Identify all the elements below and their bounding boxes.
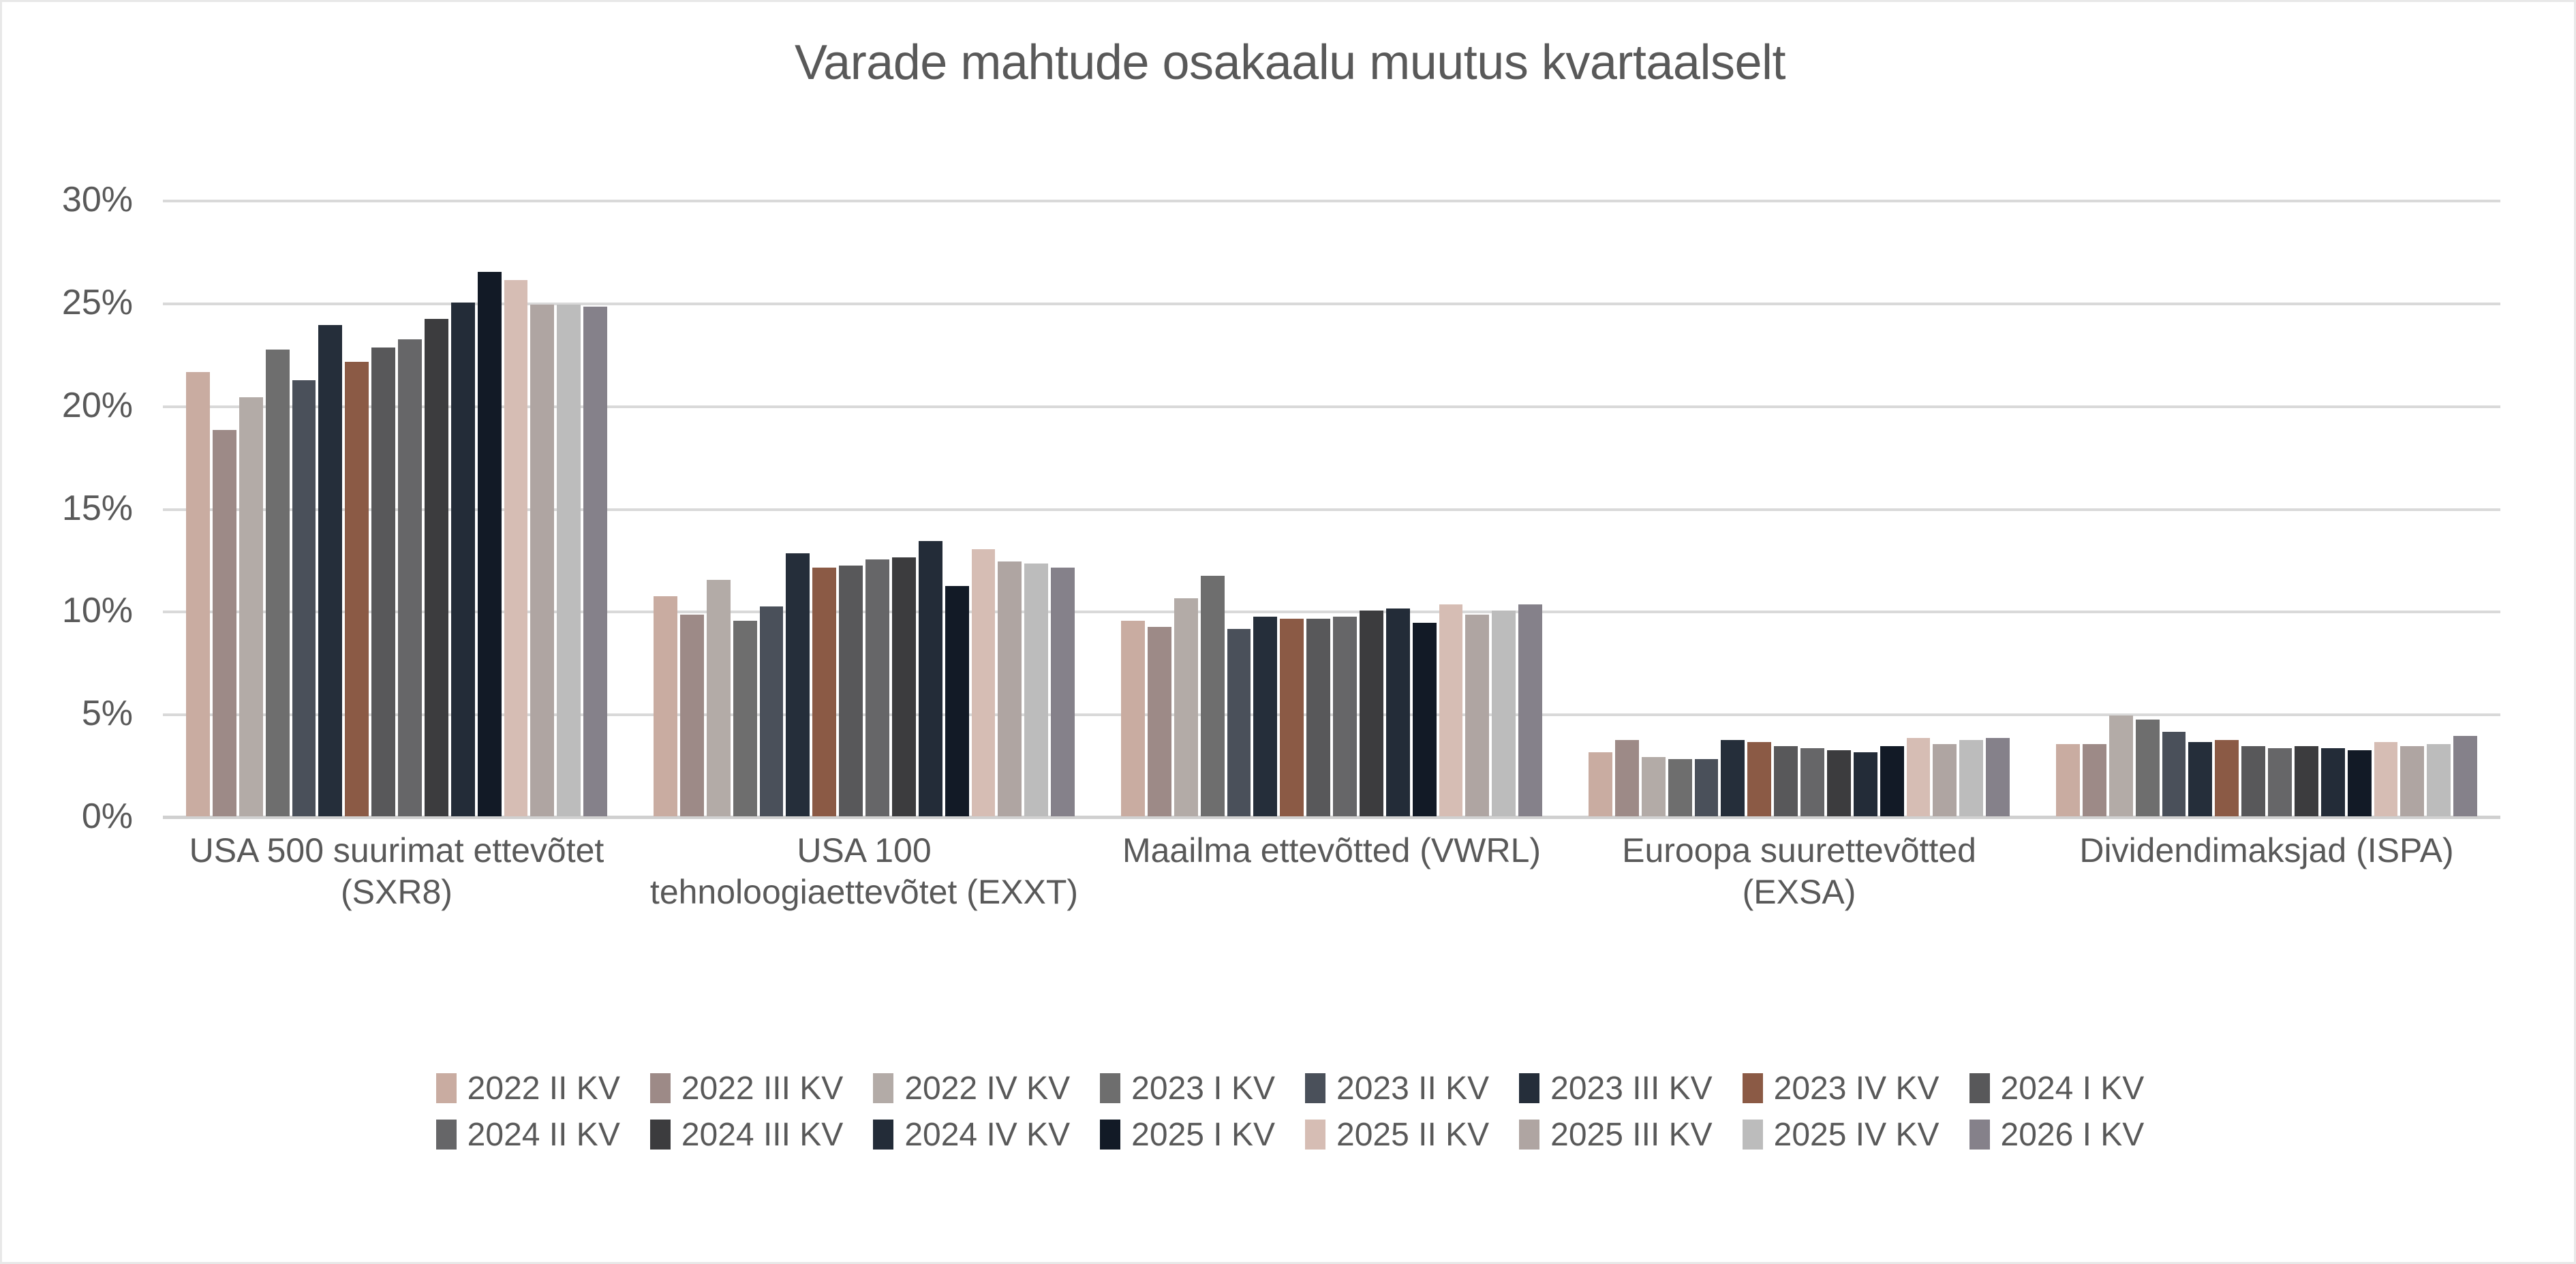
legend-swatch-icon (436, 1120, 457, 1150)
legend-item[interactable]: 2025 III KV (1519, 1116, 1713, 1154)
bar-group (2033, 200, 2500, 816)
bar[interactable] (892, 557, 916, 816)
bar[interactable] (478, 272, 502, 816)
bar[interactable] (2056, 744, 2080, 816)
chart-title: Varade mahtude osakaalu muutus kvartaals… (2, 35, 2576, 91)
x-axis-category-label: Euroopa suurettevõtted (EXSA) (1565, 830, 2033, 913)
x-axis-category-label: USA 500 suurimat ettevõtet (SXR8) (163, 830, 630, 913)
x-axis-category-label: Dividendimaksjad (ISPA) (2033, 830, 2500, 913)
bar[interactable] (266, 350, 290, 816)
bar[interactable] (2188, 742, 2212, 816)
bar[interactable] (1121, 621, 1145, 816)
bar[interactable] (1174, 598, 1198, 816)
bar[interactable] (1721, 740, 1745, 816)
bar[interactable] (318, 325, 342, 816)
legend-item-label: 2024 III KV (681, 1116, 844, 1154)
legend-item-label: 2025 IV KV (1774, 1116, 1939, 1154)
legend-swatch-icon (873, 1120, 893, 1150)
bar[interactable] (2162, 732, 2186, 816)
legend-item[interactable]: 2022 IV KV (873, 1070, 1070, 1107)
legend-swatch-icon (1100, 1073, 1120, 1103)
bar[interactable] (583, 307, 607, 816)
bar[interactable] (1148, 627, 1171, 816)
bar[interactable] (1518, 604, 1542, 816)
legend-item-label: 2024 IV KV (904, 1116, 1070, 1154)
legend-item-label: 2023 II KV (1336, 1070, 1489, 1107)
legend-item[interactable]: 2023 II KV (1305, 1070, 1489, 1107)
bar[interactable] (1589, 752, 1612, 816)
legend-swatch-icon (1743, 1073, 1763, 1103)
bar[interactable] (1880, 746, 1904, 816)
legend-item-label: 2026 I KV (2001, 1116, 2145, 1154)
legend-item[interactable]: 2026 I KV (1969, 1116, 2145, 1154)
bar[interactable] (1695, 759, 1719, 816)
bar[interactable] (1333, 617, 1357, 816)
legend-swatch-icon (1100, 1120, 1120, 1150)
legend-item-label: 2023 III KV (1550, 1070, 1713, 1107)
legend-item-label: 2025 II KV (1336, 1116, 1489, 1154)
bar[interactable] (345, 362, 369, 816)
legend-item[interactable]: 2023 IV KV (1743, 1070, 1939, 1107)
bar[interactable] (451, 303, 475, 816)
bar[interactable] (654, 596, 677, 816)
bar[interactable] (1959, 740, 1983, 816)
bar[interactable] (1386, 608, 1410, 816)
legend-item-label: 2025 III KV (1550, 1116, 1713, 1154)
legend-item[interactable]: 2024 I KV (1969, 1070, 2145, 1107)
bar[interactable] (1492, 611, 1516, 816)
legend-item[interactable]: 2025 IV KV (1743, 1116, 1939, 1154)
bar[interactable] (1854, 752, 1877, 816)
legend-row-2: 2024 II KV2024 III KV2024 IV KV2025 I KV… (2, 1111, 2576, 1158)
legend-swatch-icon (650, 1120, 671, 1150)
bar[interactable] (2427, 744, 2451, 816)
bar[interactable] (557, 305, 581, 816)
legend-swatch-icon (873, 1073, 893, 1103)
legend-item[interactable]: 2023 I KV (1100, 1070, 1275, 1107)
y-axis-tick-label: 5% (82, 693, 133, 734)
y-axis-tick-label: 15% (62, 488, 133, 529)
legend-item[interactable]: 2022 III KV (650, 1070, 844, 1107)
bar[interactable] (2453, 736, 2477, 816)
bar[interactable] (972, 549, 996, 816)
bar[interactable] (680, 615, 704, 816)
bar[interactable] (1051, 568, 1075, 816)
bar-groups (163, 200, 2500, 816)
bar[interactable] (1253, 617, 1277, 816)
bar[interactable] (1439, 604, 1463, 816)
legend-swatch-icon (1969, 1073, 1990, 1103)
bar[interactable] (919, 541, 942, 816)
legend-swatch-icon (650, 1073, 671, 1103)
legend-item-label: 2023 IV KV (1774, 1070, 1939, 1107)
bar[interactable] (1827, 750, 1851, 816)
bar[interactable] (2268, 748, 2292, 816)
y-axis-tick-label: 30% (62, 179, 133, 220)
legend-row-1: 2022 II KV2022 III KV2022 IV KV2023 I KV… (2, 1065, 2576, 1111)
legend-swatch-icon (1305, 1073, 1325, 1103)
legend-item[interactable]: 2022 II KV (436, 1070, 620, 1107)
bar[interactable] (839, 566, 863, 816)
legend-item-label: 2022 II KV (467, 1070, 620, 1107)
bar[interactable] (1360, 611, 1383, 816)
legend-swatch-icon (1519, 1073, 1539, 1103)
legend-swatch-icon (1305, 1120, 1325, 1150)
bar[interactable] (2136, 720, 2160, 816)
bar[interactable] (2215, 740, 2239, 816)
bar[interactable] (2400, 746, 2424, 816)
bar[interactable] (292, 380, 316, 816)
bar[interactable] (2374, 742, 2398, 816)
bar[interactable] (1615, 740, 1639, 816)
legend-swatch-icon (1969, 1120, 1990, 1150)
bar[interactable] (2109, 715, 2133, 816)
bar-group (163, 200, 630, 816)
x-axis-category-label: USA 100 tehnoloogiaettevõtet (EXXT) (630, 830, 1098, 913)
legend-item-label: 2022 III KV (681, 1070, 844, 1107)
bar[interactable] (1907, 738, 1931, 816)
bar[interactable] (1668, 759, 1692, 816)
legend-item-label: 2024 I KV (2001, 1070, 2145, 1107)
bar[interactable] (2083, 744, 2106, 816)
legend-item-label: 2023 I KV (1131, 1070, 1275, 1107)
bar[interactable] (1933, 744, 1957, 816)
bar[interactable] (1201, 576, 1225, 816)
bar[interactable] (1465, 615, 1489, 816)
bar[interactable] (707, 580, 731, 816)
bar[interactable] (1306, 619, 1330, 816)
bar[interactable] (1024, 564, 1048, 816)
legend-item[interactable]: 2023 III KV (1519, 1070, 1713, 1107)
y-axis-tick-label: 20% (62, 385, 133, 426)
legend-swatch-icon (436, 1073, 457, 1103)
y-axis-tick-label: 10% (62, 590, 133, 631)
legend-item[interactable]: 2025 I KV (1100, 1116, 1275, 1154)
legend-item-label: 2024 II KV (467, 1116, 620, 1154)
bar[interactable] (186, 372, 210, 816)
bar[interactable] (371, 348, 395, 816)
bar-group (1565, 200, 2033, 816)
bar[interactable] (1413, 623, 1437, 816)
bar[interactable] (213, 430, 236, 816)
legend-item-label: 2022 IV KV (904, 1070, 1070, 1107)
bar[interactable] (2241, 746, 2265, 816)
bar[interactable] (2295, 746, 2318, 816)
bar[interactable] (2348, 750, 2372, 816)
bar[interactable] (945, 586, 969, 816)
y-axis-tick-label: 0% (82, 796, 133, 837)
bar[interactable] (998, 561, 1022, 816)
x-axis-category-label: Maailma ettevõtted (VWRL) (1098, 830, 1565, 913)
bar[interactable] (760, 606, 784, 816)
legend-item[interactable]: 2024 IV KV (873, 1116, 1070, 1154)
bar[interactable] (239, 397, 263, 816)
bar[interactable] (1774, 746, 1798, 816)
chart-legend: 2022 II KV2022 III KV2022 IV KV2023 I KV… (2, 1065, 2576, 1158)
bar[interactable] (812, 568, 836, 816)
bar-group (1098, 200, 1565, 816)
legend-item[interactable]: 2024 III KV (650, 1116, 844, 1154)
bar-group (630, 200, 1098, 816)
y-axis-tick-label: 25% (62, 282, 133, 323)
bar[interactable] (1280, 619, 1304, 816)
bar[interactable] (1800, 748, 1824, 816)
bar[interactable] (530, 305, 554, 816)
legend-item-label: 2025 I KV (1131, 1116, 1275, 1154)
bar[interactable] (1642, 757, 1666, 816)
legend-item[interactable]: 2025 II KV (1305, 1116, 1489, 1154)
bar[interactable] (865, 559, 889, 816)
chart-container: Varade mahtude osakaalu muutus kvartaals… (0, 0, 2576, 1264)
x-axis-labels: USA 500 suurimat ettevõtet (SXR8)USA 100… (163, 830, 2500, 913)
bar[interactable] (1747, 742, 1771, 816)
bar[interactable] (1227, 629, 1251, 816)
bar[interactable] (1986, 738, 2010, 816)
bar[interactable] (786, 553, 810, 816)
legend-swatch-icon (1519, 1120, 1539, 1150)
y-axis: 30%25%20%15%10%5%0% (2, 200, 152, 816)
bar[interactable] (2321, 748, 2345, 816)
bar[interactable] (733, 621, 757, 816)
bar[interactable] (398, 339, 422, 816)
bar[interactable] (504, 280, 528, 816)
legend-item[interactable]: 2024 II KV (436, 1116, 620, 1154)
legend-swatch-icon (1743, 1120, 1763, 1150)
bar[interactable] (425, 319, 448, 816)
